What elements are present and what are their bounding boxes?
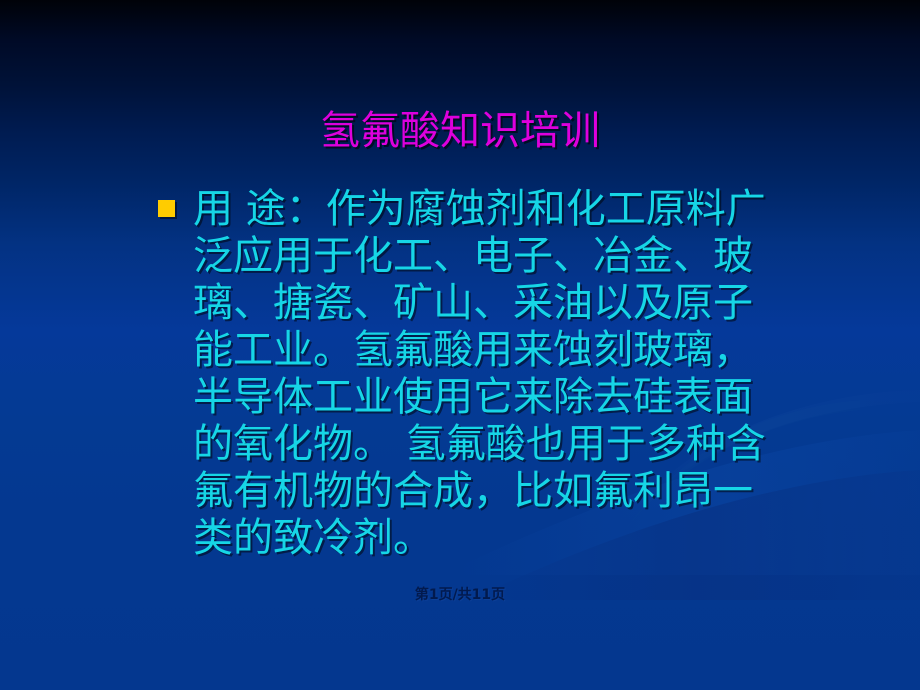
slide-body: 用 途：作为腐蚀剂和化工原料广 泛应用于化工、电子、冶金、玻 璃、搪瓷、矿山、采… [158, 186, 818, 562]
presentation-slide: 氢氟酸知识培训 用 途：作为腐蚀剂和化工原料广 泛应用于化工、电子、冶金、玻 璃… [0, 0, 920, 690]
slide-title: 氢氟酸知识培训 [0, 108, 920, 154]
body-line: 璃、搪瓷、矿山、采油以及原子 [193, 280, 818, 327]
body-paragraph: 用 途：作为腐蚀剂和化工原料广 泛应用于化工、电子、冶金、玻 璃、搪瓷、矿山、采… [193, 186, 818, 562]
page-indicator: 第1页/共11页 [0, 584, 920, 604]
body-line: 能工业。氢氟酸用来蚀刻玻璃， [193, 327, 818, 374]
body-line: 氟有机物的合成，比如氟利昂一 [193, 468, 818, 515]
bullet-list-item: 用 途：作为腐蚀剂和化工原料广 泛应用于化工、电子、冶金、玻 璃、搪瓷、矿山、采… [158, 186, 818, 562]
square-bullet-icon [158, 200, 175, 217]
body-line: 半导体工业使用它来除去硅表面 [193, 374, 818, 421]
body-line: 的氧化物。 氢氟酸也用于多种含 [193, 421, 818, 468]
body-line: 用 途：作为腐蚀剂和化工原料广 [193, 186, 818, 233]
body-line: 泛应用于化工、电子、冶金、玻 [193, 233, 818, 280]
body-line: 类的致冷剂。 [193, 515, 818, 562]
